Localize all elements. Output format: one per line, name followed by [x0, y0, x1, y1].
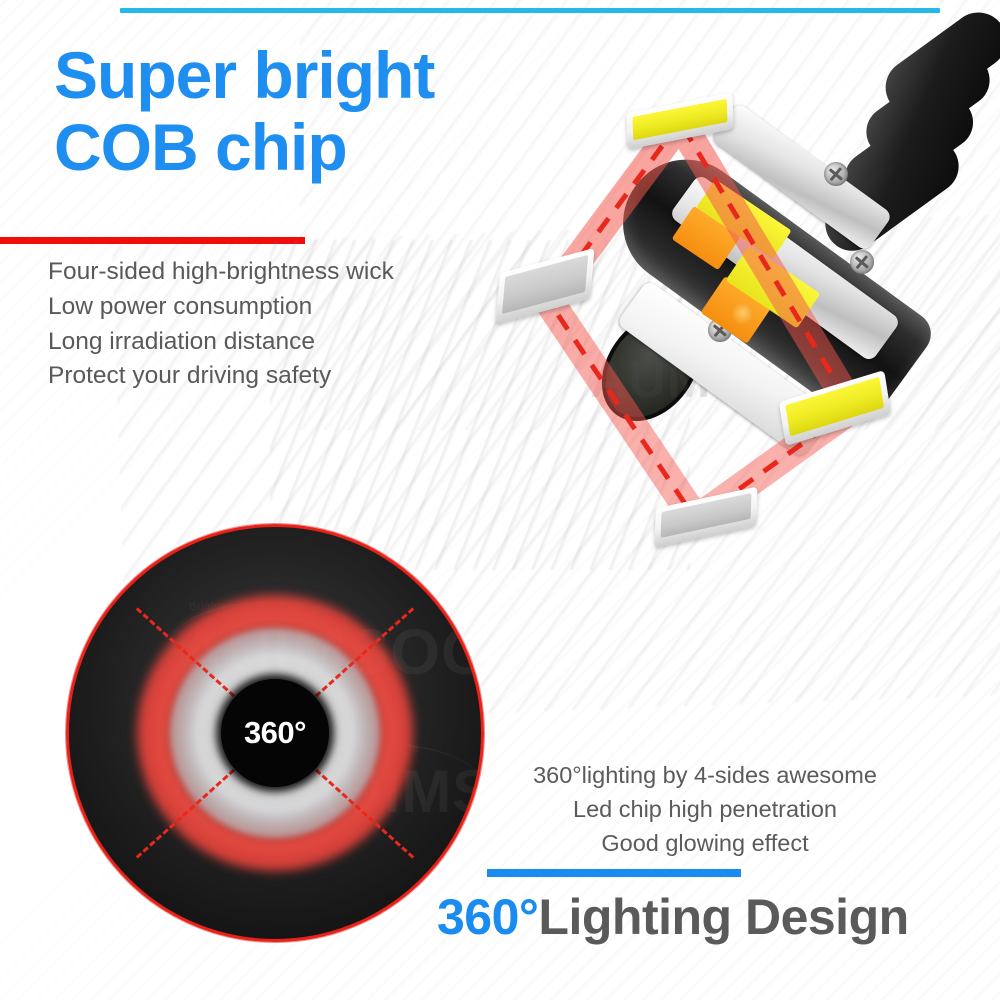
section-title-rest: Lighting Design [538, 889, 908, 945]
diagram-core: 360° [221, 679, 329, 787]
list-item: Led chip high penetration [470, 792, 940, 826]
led-bulb-illustration: AUMS [500, 50, 1000, 590]
core-label: 360° [244, 715, 306, 751]
red-accent-bar [0, 237, 305, 244]
list-item: Good glowing effect [470, 826, 940, 860]
product-marketing-canvas: Super bright COB chip Four-sided high-br… [0, 0, 1000, 1000]
cyan-divider-line [120, 8, 940, 13]
headline-line-1: Super bright [54, 38, 434, 112]
section-title: 360°Lighting Design [437, 888, 909, 946]
beam-band [548, 122, 852, 520]
360-lighting-diagram: Brightening Your Life AUIMSOCO Brighteni… [66, 524, 484, 942]
blue-accent-bar [487, 869, 741, 877]
diagram-disc: Brightening Your Life AUIMSOCO Brighteni… [66, 524, 484, 942]
section-title-accent: 360° [437, 889, 538, 945]
list-item: 360°lighting by 4-sides awesome [470, 758, 940, 792]
secondary-feature-list: 360°lighting by 4-sides awesome Led chip… [470, 758, 940, 860]
